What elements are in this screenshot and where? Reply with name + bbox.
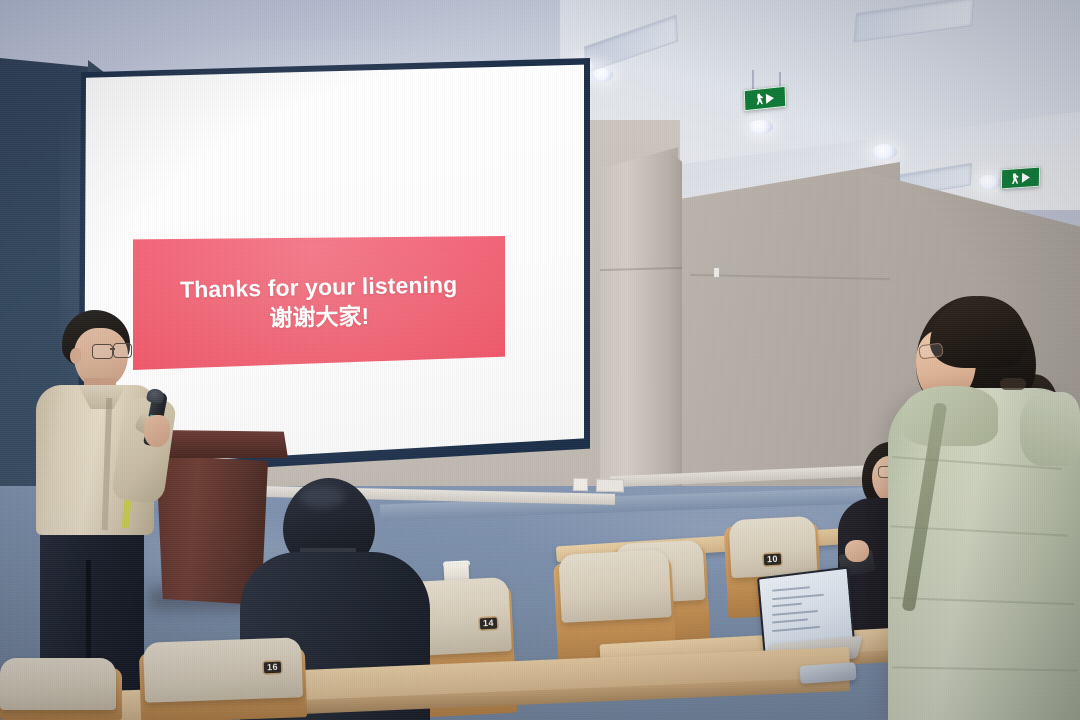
ceiling-spotlight <box>748 120 773 134</box>
wall-switch[interactable] <box>714 268 719 277</box>
slide-title-english: Thanks for your listening <box>180 272 458 303</box>
slide-title-chinese: 谢谢大家! <box>269 303 369 333</box>
wall-pillar <box>600 140 678 500</box>
ceiling-spotlight <box>592 68 613 82</box>
glasses-icon <box>113 343 132 358</box>
hair-tie <box>1000 378 1026 390</box>
standing-attendee-shoulder <box>1020 392 1080 466</box>
glasses-icon <box>92 344 113 359</box>
exit-sign-box <box>744 86 787 111</box>
running-person-icon <box>756 93 764 105</box>
slide-text: Thanks for your listening 谢谢大家! <box>132 232 507 373</box>
exit-sign-box <box>1001 167 1040 190</box>
seat[interactable] <box>729 516 818 578</box>
presenter-hand <box>144 415 170 447</box>
seat[interactable] <box>558 549 671 623</box>
seated-attendee-center-hair-highlight <box>300 486 344 508</box>
ceiling-spotlight <box>872 144 897 160</box>
running-person-icon <box>1011 173 1019 185</box>
wall-outlet[interactable] <box>573 478 588 491</box>
seat-number-badge: 16 <box>264 662 281 674</box>
glasses-bridge <box>110 348 115 350</box>
exit-sign-rod <box>752 70 754 90</box>
presenter-ear <box>70 348 81 364</box>
arrow-right-icon <box>1021 172 1029 183</box>
ceiling-spotlight <box>978 175 1001 190</box>
seated-attendee-right-hand <box>845 540 869 562</box>
seat[interactable] <box>0 658 116 710</box>
seat-number-badge: 10 <box>764 554 782 566</box>
standing-attendee-jacket-collar <box>902 386 998 446</box>
arrow-right-icon <box>766 93 774 104</box>
seat-number-badge: 14 <box>480 618 498 630</box>
wall-outlet[interactable] <box>596 479 624 492</box>
conference-room-photo: Thanks for your listening 谢谢大家! 12 10 14 <box>0 0 1080 720</box>
pillar-edge <box>668 144 682 496</box>
